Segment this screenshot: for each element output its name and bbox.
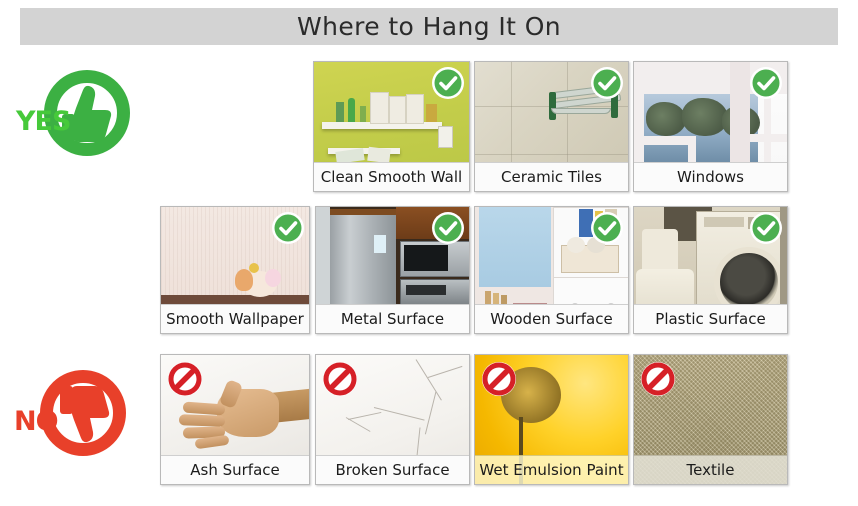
- prohibition-icon: [167, 361, 203, 397]
- card-label: Clean Smooth Wall: [314, 162, 469, 191]
- verdict-label-no: NO: [14, 406, 58, 437]
- card-label: Metal Surface: [316, 304, 469, 333]
- verdict-badge-yes: YES: [8, 66, 138, 176]
- surface-card-smooth-wallpaper[interactable]: Smooth Wallpaper: [160, 206, 310, 334]
- prohibition-icon: [322, 361, 358, 397]
- check-circle-icon: [749, 211, 783, 245]
- surface-card-ceramic-tiles[interactable]: Ceramic Tiles: [474, 61, 629, 192]
- card-label: Ceramic Tiles: [475, 162, 628, 191]
- surface-card-windows[interactable]: Windows: [633, 61, 788, 192]
- page-title: Where to Hang It On: [297, 12, 561, 41]
- surface-card-clean-smooth-wall[interactable]: Clean Smooth Wall: [313, 61, 470, 192]
- prohibition-icon: [640, 361, 676, 397]
- card-label: Windows: [634, 162, 787, 191]
- surface-card-plastic-surface[interactable]: Plastic Surface: [633, 206, 788, 334]
- card-label: Wet Emulsion Paint: [475, 455, 628, 484]
- check-circle-icon: [749, 66, 783, 100]
- verdict-label-yes: YES: [16, 106, 70, 137]
- surface-card-wet-emulsion-paint[interactable]: Wet Emulsion Paint: [474, 354, 629, 485]
- surface-card-wooden-surface[interactable]: Wooden Surface: [474, 206, 629, 334]
- verdict-badge-no: NO: [4, 366, 134, 476]
- prohibition-icon: [481, 361, 517, 397]
- page-title-bar: Where to Hang It On: [20, 8, 838, 45]
- card-label: Textile: [634, 455, 787, 484]
- card-label: Smooth Wallpaper: [161, 304, 309, 333]
- check-circle-icon: [431, 66, 465, 100]
- card-label: Plastic Surface: [634, 304, 787, 333]
- surface-card-ash-surface[interactable]: Ash Surface: [160, 354, 310, 485]
- card-label: Broken Surface: [316, 455, 469, 484]
- infographic-page: Where to Hang It On YES NO: [0, 0, 858, 506]
- check-circle-icon: [271, 211, 305, 245]
- check-circle-icon: [590, 211, 624, 245]
- surface-card-textile[interactable]: Textile: [633, 354, 788, 485]
- check-circle-icon: [590, 66, 624, 100]
- surface-card-metal-surface[interactable]: Metal Surface: [315, 206, 470, 334]
- check-circle-icon: [431, 211, 465, 245]
- card-label: Wooden Surface: [475, 304, 628, 333]
- card-label: Ash Surface: [161, 455, 309, 484]
- surface-card-broken-surface[interactable]: Broken Surface: [315, 354, 470, 485]
